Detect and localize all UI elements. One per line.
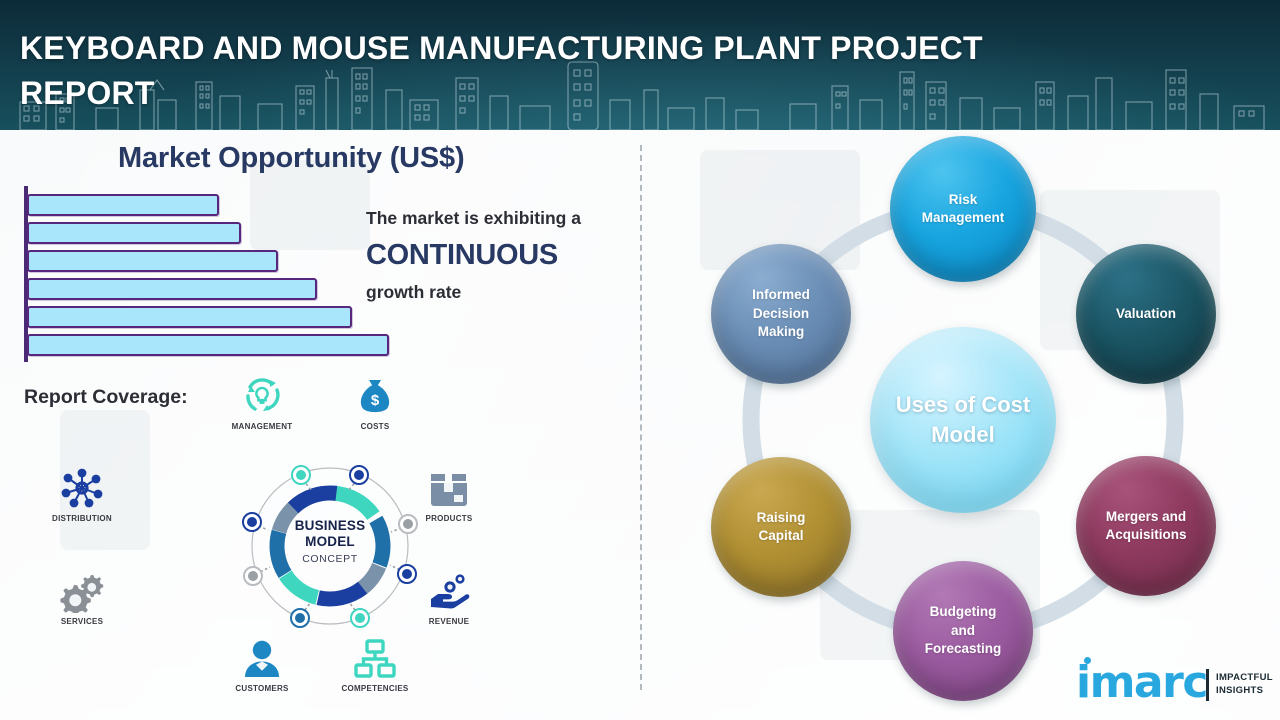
business-model-label: BUSINESS MODEL CONCEPT xyxy=(240,518,420,567)
panel-divider xyxy=(640,145,642,690)
node-center-uses-of-cost-model[interactable]: Uses of Cost Model xyxy=(870,327,1056,513)
node-label-line-1: Mergers and xyxy=(1105,508,1186,527)
pitch-line-1: The market is exhibiting a xyxy=(366,204,636,232)
coverage-item-distribution: DISTRIBUTION xyxy=(45,460,119,523)
hand-coins-icon xyxy=(412,563,486,613)
logo-tagline-line-1: IMPACTFUL xyxy=(1216,671,1273,684)
node-label-line-1: Budgeting xyxy=(925,603,1002,622)
box-package-icon xyxy=(412,460,486,510)
imarc-logo[interactable]: imarc IMPACTFUL INSIGHTS xyxy=(1068,655,1268,713)
logo-tagline: IMPACTFUL INSIGHTS xyxy=(1216,671,1273,697)
node-budgeting-and-forecasting[interactable]: Budgeting and Forecasting xyxy=(893,561,1033,701)
node-valuation[interactable]: Valuation xyxy=(1076,244,1216,384)
coverage-item-products: PRODUCTS xyxy=(412,460,486,523)
market-opportunity-bar-chart xyxy=(24,186,404,362)
node-label-line-2: Decision xyxy=(752,305,810,324)
node-label-line-1: Risk xyxy=(922,191,1005,210)
node-label-line-3: Forecasting xyxy=(925,640,1002,659)
coverage-item-management: MANAGEMENT xyxy=(225,368,299,431)
org-chart-icon xyxy=(338,630,412,680)
business-model-line-2: MODEL xyxy=(240,534,420,550)
coverage-item-revenue: REVENUE xyxy=(412,563,486,626)
network-nodes-icon xyxy=(45,460,119,510)
recycle-lightbulb-icon xyxy=(225,368,299,418)
node-informed-decision-making[interactable]: Informed Decision Making xyxy=(711,244,851,384)
bar-2 xyxy=(27,222,241,244)
coverage-label: COMPETENCIES xyxy=(338,684,412,693)
business-model-line-1: BUSINESS xyxy=(240,518,420,534)
coverage-label: DISTRIBUTION xyxy=(45,514,119,523)
logo-tagline-line-2: INSIGHTS xyxy=(1216,684,1273,697)
node-label-line-3: Making xyxy=(752,323,810,342)
uses-of-cost-model-diagram: Uses of Cost Model Risk Management Valua… xyxy=(660,130,1280,720)
node-label-line-1: Raising xyxy=(757,509,806,528)
logo-wordmark: imarc xyxy=(1076,661,1207,705)
coverage-label: PRODUCTS xyxy=(412,514,486,523)
coverage-label: MANAGEMENT xyxy=(225,422,299,431)
node-mergers-and-acquisitions[interactable]: Mergers and Acquisitions xyxy=(1076,456,1216,596)
node-label-line-1: Informed xyxy=(752,286,810,305)
bar-3 xyxy=(27,250,278,272)
person-user-icon xyxy=(225,630,299,680)
node-label-line-2: Capital xyxy=(757,527,806,546)
node-risk-management[interactable]: Risk Management xyxy=(890,136,1036,282)
coverage-item-costs: $ COSTS xyxy=(338,368,412,431)
node-label-line-2: Acquisitions xyxy=(1105,526,1186,545)
svg-text:$: $ xyxy=(371,392,380,409)
slide-canvas: KEYBOARD AND MOUSE MANUFACTURING PLANT P… xyxy=(0,0,1280,720)
coverage-label: REVENUE xyxy=(412,617,486,626)
report-coverage-infographic: MANAGEMENT $ COSTS xyxy=(140,368,520,698)
coverage-item-competencies: COMPETENCIES xyxy=(338,630,412,693)
gears-icon xyxy=(45,563,119,613)
coverage-item-customers: CUSTOMERS xyxy=(225,630,299,693)
bar-1 xyxy=(27,194,219,216)
pitch-line-3: growth rate xyxy=(366,278,636,306)
coverage-label: COSTS xyxy=(338,422,412,431)
bar-6 xyxy=(27,334,389,356)
node-label-line-1: Valuation xyxy=(1116,305,1176,324)
market-opportunity-title: Market Opportunity (US$) xyxy=(118,142,464,175)
business-model-line-3: CONCEPT xyxy=(240,551,420,567)
coverage-label: CUSTOMERS xyxy=(225,684,299,693)
bar-5 xyxy=(27,306,352,328)
coverage-label: SERVICES xyxy=(45,617,119,626)
pitch-emphasis: CONTINUOUS xyxy=(366,232,636,278)
money-bag-icon: $ xyxy=(338,368,412,418)
node-label-line-2: Management xyxy=(922,209,1005,228)
node-label-line-2: and xyxy=(925,622,1002,641)
slide-header: KEYBOARD AND MOUSE MANUFACTURING PLANT P… xyxy=(0,0,1280,130)
business-model-ring: BUSINESS MODEL CONCEPT xyxy=(240,456,420,636)
page-title: KEYBOARD AND MOUSE MANUFACTURING PLANT P… xyxy=(20,26,1110,116)
growth-pitch: The market is exhibiting a CONTINUOUS gr… xyxy=(366,204,636,306)
center-label-line-1: Uses of xyxy=(896,392,975,417)
coverage-item-services: SERVICES xyxy=(45,563,119,626)
logo-divider xyxy=(1206,669,1209,701)
bar-4 xyxy=(27,278,317,300)
node-raising-capital[interactable]: Raising Capital xyxy=(711,457,851,597)
